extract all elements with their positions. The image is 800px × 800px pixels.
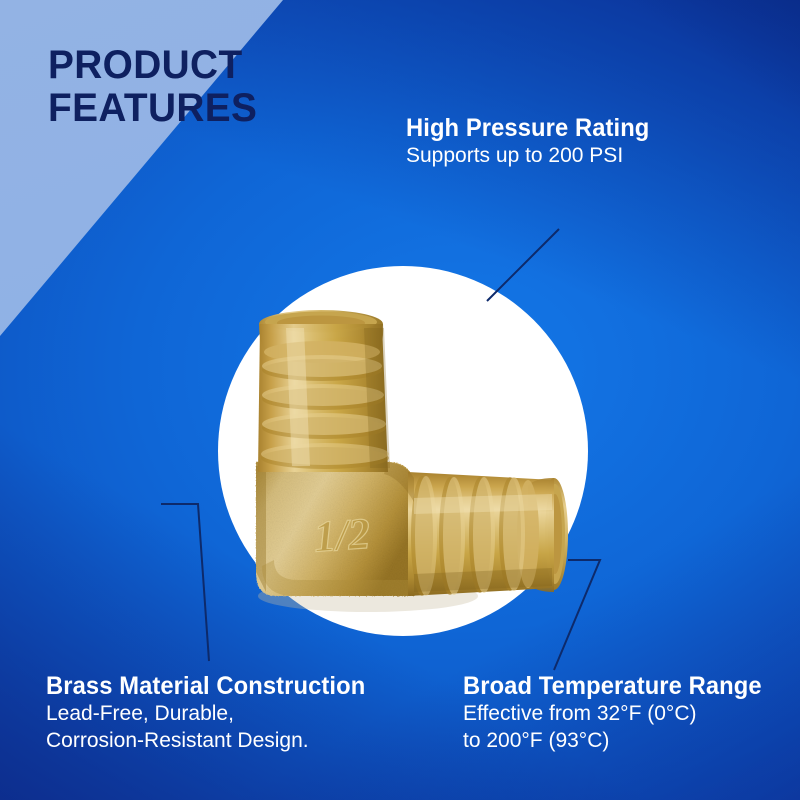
feature-high-pressure-rating: High Pressure Rating Supports up to 200 …	[406, 114, 662, 169]
feature-title-high-pressure-rating: High Pressure Rating	[406, 114, 649, 142]
feature-sub-high-pressure-rating-line1: Supports up to 200 PSI	[406, 142, 662, 169]
product-image: 1/2	[218, 266, 588, 636]
infographic-canvas: PRODUCTFEATURES	[0, 0, 800, 800]
product-size-stamp: 1/2	[312, 509, 372, 562]
feature-sub-temperature-line2: to 200°F (93°C)	[463, 727, 777, 754]
page-title: PRODUCTFEATURES	[48, 44, 257, 130]
feature-brass-material-construction: Brass Material Construction Lead-Free, D…	[46, 672, 382, 754]
feature-title-broad-temperature-range: Broad Temperature Range	[463, 672, 762, 700]
feature-title-brass-material-construction: Brass Material Construction	[46, 672, 365, 700]
feature-sub-brass-line1: Lead-Free, Durable,	[46, 700, 382, 727]
page-title-line2: FEATURES	[48, 86, 257, 130]
page-title-line1: PRODUCT	[48, 43, 243, 87]
feature-broad-temperature-range: Broad Temperature Range Effective from 3…	[463, 672, 777, 754]
feature-sub-brass-line2: Corrosion-Resistant Design.	[46, 727, 382, 754]
feature-sub-temperature-line1: Effective from 32°F (0°C)	[463, 700, 777, 727]
